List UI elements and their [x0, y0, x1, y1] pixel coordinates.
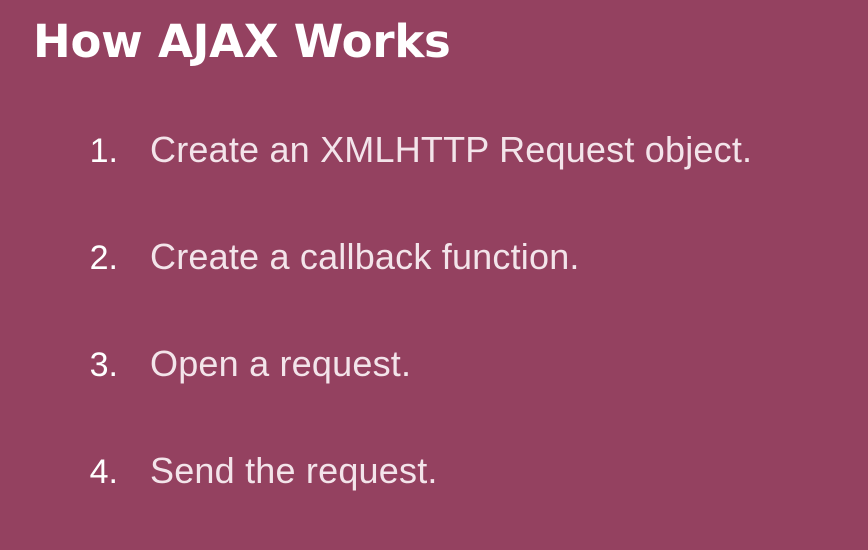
- slide-canvas: How AJAX Works 1. Create an XMLHTTP Requ…: [0, 0, 868, 550]
- step-text: Create an XMLHTTP Request object.: [150, 128, 752, 172]
- step-number: 2.: [0, 236, 118, 280]
- step-text: Send the request.: [150, 449, 438, 493]
- list-item: 2. Create a callback function.: [0, 235, 868, 342]
- list-item: 1. Create an XMLHTTP Request object.: [0, 128, 868, 235]
- page-title: How AJAX Works: [33, 11, 451, 73]
- step-text: Open a request.: [150, 342, 411, 386]
- list-item: 4. Send the request.: [0, 449, 868, 550]
- step-text: Create a callback function.: [150, 235, 580, 279]
- step-number: 1.: [0, 129, 118, 173]
- steps-list: 1. Create an XMLHTTP Request object. 2. …: [0, 128, 868, 550]
- list-item: 3. Open a request.: [0, 342, 868, 449]
- step-number: 3.: [0, 343, 118, 387]
- step-number: 4.: [0, 450, 118, 494]
